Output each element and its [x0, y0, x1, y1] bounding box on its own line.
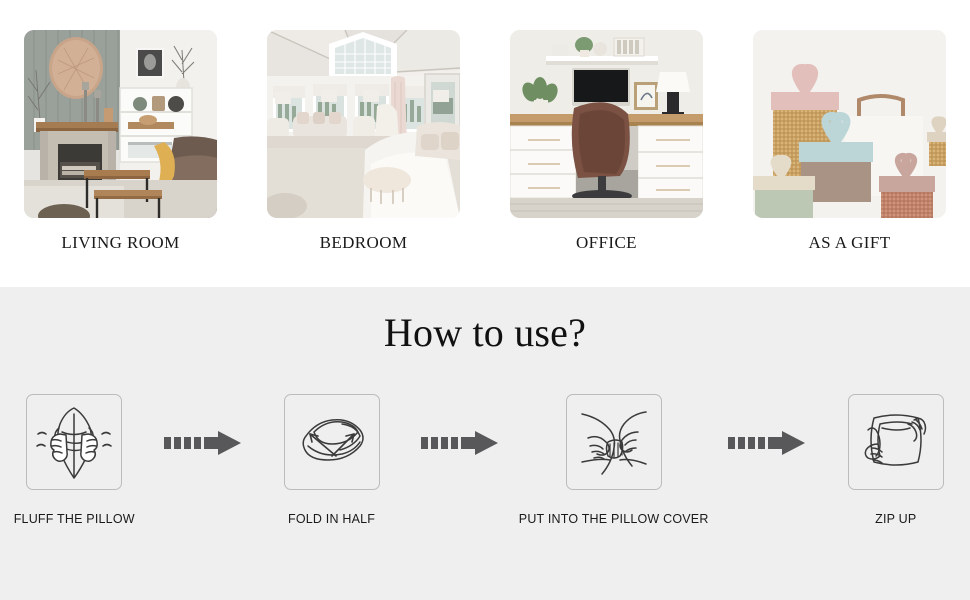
as-a-gift-illustration: [753, 30, 946, 218]
step-2-label: FOLD IN HALF: [288, 512, 375, 526]
category-card-office[interactable]: OFFICE: [510, 30, 703, 253]
arrow-right-icon: [421, 430, 499, 456]
fluff-pillow-icon: [34, 402, 114, 482]
zip-up-icon: [856, 402, 936, 482]
arrow-right-icon: [164, 430, 242, 456]
step-4-icon-box: [848, 394, 944, 490]
how-to-use-section: How to use?: [0, 287, 970, 600]
step-3-put-into-the-pillow-cover: PUT INTO THE PILLOW COVER: [515, 394, 713, 526]
how-to-use-title: How to use?: [0, 309, 970, 356]
fold-in-half-icon: [292, 402, 372, 482]
office-photo: [510, 30, 703, 218]
office-illustration: [510, 30, 703, 218]
living-room-illustration: [24, 30, 217, 218]
bedroom-photo: [267, 30, 460, 218]
step-4-label: ZIP UP: [875, 512, 916, 526]
category-card-living-room[interactable]: LIVING ROOM: [24, 30, 217, 253]
insert-pillow-icon: [574, 402, 654, 482]
step-3-label: PUT INTO THE PILLOW COVER: [519, 512, 709, 526]
usage-categories-section: LIVING ROOM: [0, 0, 970, 287]
step-2-icon-box: [284, 394, 380, 490]
step-1-label: FLUFF THE PILLOW: [14, 512, 135, 526]
step-4-zip-up: ZIP UP: [822, 394, 970, 526]
category-label-as-a-gift: AS A GIFT: [808, 233, 890, 253]
step-1-fluff-the-pillow: FLUFF THE PILLOW: [0, 394, 148, 526]
step-2-fold-in-half: FOLD IN HALF: [257, 394, 405, 526]
step-arrow-2: [406, 394, 515, 456]
living-room-photo: [24, 30, 217, 218]
category-card-bedroom[interactable]: BEDROOM: [267, 30, 460, 253]
category-card-as-a-gift[interactable]: AS A GIFT: [753, 30, 946, 253]
arrow-right-icon: [728, 430, 806, 456]
category-label-living-room: LIVING ROOM: [61, 233, 179, 253]
step-1-icon-box: [26, 394, 122, 490]
how-to-use-steps: FLUFF THE PILLOW: [0, 394, 970, 526]
step-arrow-3: [713, 394, 822, 456]
step-3-icon-box: [566, 394, 662, 490]
category-label-office: OFFICE: [576, 233, 637, 253]
gift-boxes-illustration: [753, 30, 946, 218]
category-label-bedroom: BEDROOM: [320, 233, 408, 253]
bedroom-illustration: [267, 30, 460, 218]
step-arrow-1: [148, 394, 257, 456]
